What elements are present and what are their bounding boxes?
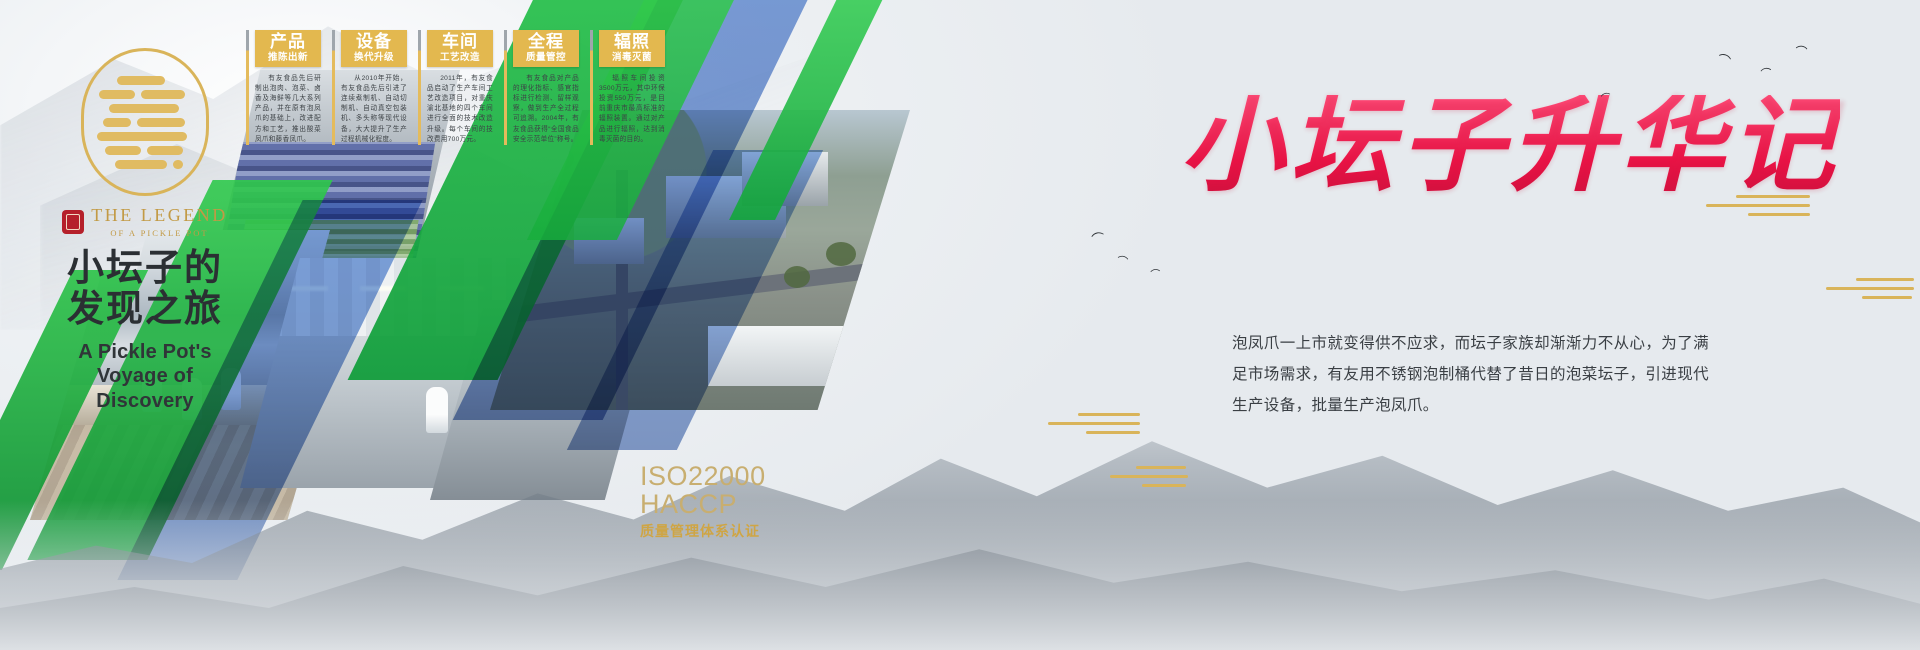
- info-columns: 产品 推陈出新 有友食品先后研制出泡肉、泡菜、卤香及海鲜等几大系列产品，并在原有…: [255, 30, 725, 220]
- column-heading: 车间: [431, 33, 489, 50]
- certification-iso: ISO22000: [640, 463, 766, 491]
- flying-bird-icon: ︵: [1089, 223, 1104, 238]
- column-body: 辐照车间投资3500万元，其中环保投资550万元，是目前重庆市最高标准的辐照装置…: [599, 74, 665, 146]
- legend-line-1: THE LEGEND: [91, 206, 227, 224]
- hero-paragraph: 泡凤爪一上市就变得供不应求，而坛子家族却渐渐力不从心，为了满足市场需求，有友用不…: [1232, 328, 1722, 421]
- column-heading: 辐照: [603, 33, 661, 50]
- info-column-equipment: 设备 换代升级 从2010年开始，有友食品先后引进了连续煮制机、自动切制机、自动…: [341, 30, 407, 145]
- column-subheading: 工艺改造: [431, 53, 489, 63]
- legend-line-2: OF A PICKLE POT: [91, 228, 227, 238]
- brand-cn-title-line1: 小坛子的: [50, 248, 240, 289]
- flying-bird-icon: ︵: [1150, 264, 1161, 275]
- brand-en-title: A Pickle Pot's Voyage of Discovery: [50, 340, 240, 413]
- flying-bird-icon: ︵: [1795, 37, 1808, 50]
- column-subheading: 消毒灭菌: [603, 53, 661, 63]
- brand-en-title-line1: A Pickle Pot's: [50, 340, 240, 364]
- column-heading: 设备: [345, 33, 403, 50]
- column-body: 2011年，有友食品启动了生产车间工艺改造项目，对重庆渝北基地的四个车间进行全面…: [427, 74, 493, 146]
- flying-bird-icon: ︵: [1718, 44, 1734, 60]
- column-body: 有友食品对产品的理化指标、感官指标进行检测、留样观察，做到生产全过程可追溯。20…: [513, 74, 579, 146]
- brand-block: THE LEGEND OF A PICKLE POT 小坛子的 发现之旅 A P…: [50, 48, 240, 413]
- hero-title: 小坛子升华记: [1180, 95, 1840, 215]
- certification-cn: 质量管理体系认证: [640, 521, 766, 541]
- flying-bird-icon: ︵: [1759, 61, 1771, 73]
- red-seal-stamp-icon: [62, 210, 84, 234]
- certification-haccp: HACCP: [640, 491, 766, 519]
- legend-lockup: THE LEGEND OF A PICKLE POT: [50, 206, 240, 238]
- pickle-pot-seal-icon: [81, 48, 209, 196]
- banner-stage: THE LEGEND OF A PICKLE POT 小坛子的 发现之旅 A P…: [0, 0, 1920, 650]
- brand-cn-title: 小坛子的 发现之旅: [50, 248, 240, 331]
- mist-gradient: [0, 500, 1920, 650]
- column-heading: 产品: [259, 33, 317, 50]
- brand-en-title-line2: Voyage of Discovery: [50, 364, 240, 413]
- column-subheading: 推陈出新: [259, 53, 317, 63]
- column-subheading: 质量管控: [517, 53, 575, 63]
- info-column-product: 产品 推陈出新 有友食品先后研制出泡肉、泡菜、卤香及海鲜等几大系列产品，并在原有…: [255, 30, 321, 145]
- column-subheading: 换代升级: [345, 53, 403, 63]
- info-column-workshop: 车间 工艺改造 2011年，有友食品启动了生产车间工艺改造项目，对重庆渝北基地的…: [427, 30, 493, 145]
- info-column-quality: 全程 质量管控 有友食品对产品的理化指标、感官指标进行检测、留样观察，做到生产全…: [513, 30, 579, 145]
- column-body: 有友食品先后研制出泡肉、泡菜、卤香及海鲜等几大系列产品，并在原有泡凤爪的基础上，…: [255, 74, 321, 146]
- gold-cloud-swirl-icon: [1826, 278, 1916, 305]
- gold-cloud-swirl-icon: [1048, 413, 1144, 440]
- certification-badge: ISO22000 HACCP 质量管理体系认证: [640, 463, 766, 541]
- brand-cn-title-line2: 发现之旅: [50, 289, 240, 330]
- info-column-irradiation: 辐照 消毒灭菌 辐照车间投资3500万元，其中环保投资550万元，是目前重庆市最…: [599, 30, 665, 145]
- flying-bird-icon: ︵: [1117, 249, 1130, 262]
- column-heading: 全程: [517, 33, 575, 50]
- column-body: 从2010年开始，有友食品先后引进了连续煮制机、自动切制机、自动真空包装机、多头…: [341, 74, 407, 146]
